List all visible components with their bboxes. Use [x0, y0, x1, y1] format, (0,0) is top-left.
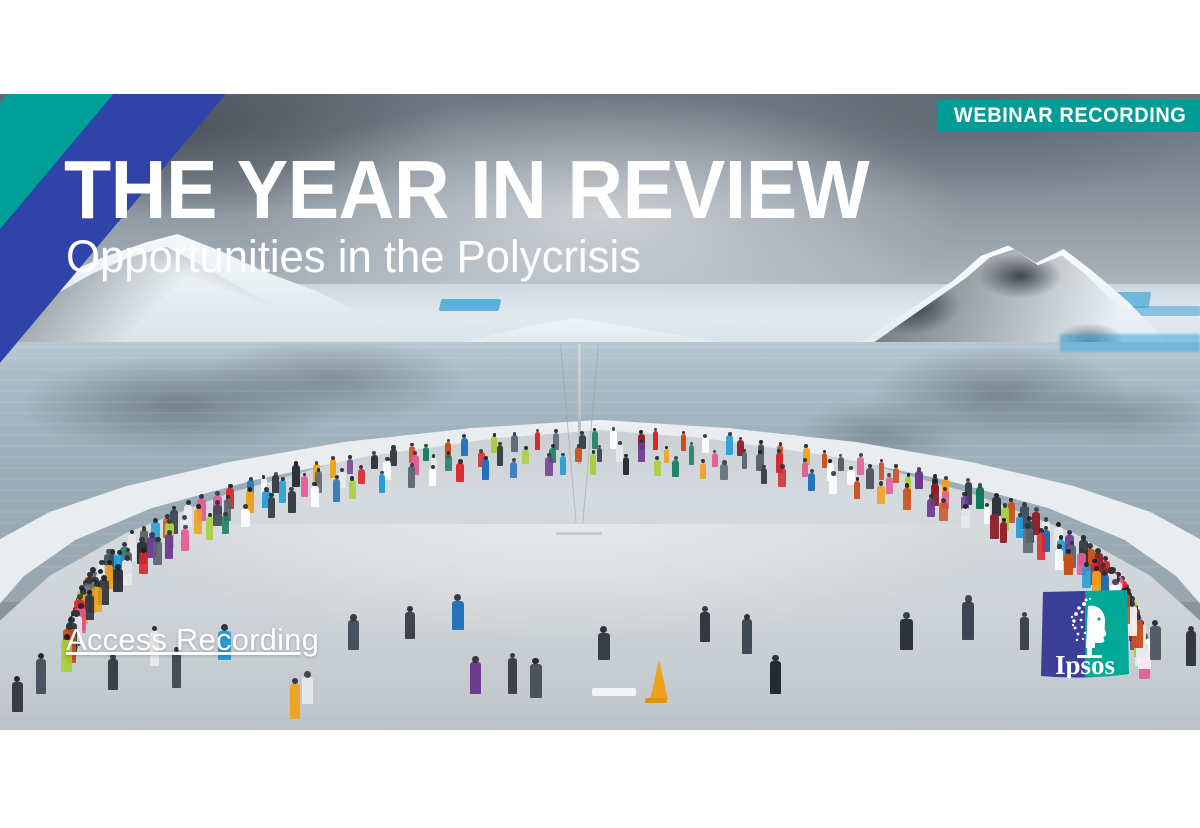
passenger: [857, 457, 864, 475]
passenger: [1081, 535, 1086, 540]
passenger: [1150, 626, 1161, 660]
passenger: [289, 487, 294, 492]
passenger: [301, 476, 308, 497]
passenger: [866, 468, 874, 489]
passenger: [1057, 544, 1062, 549]
passenger: [1095, 548, 1101, 554]
webinar-promo-page: WEBINAR RECORDING THE YEAR IN REVIEW Opp…: [0, 0, 1200, 828]
passenger: [577, 444, 581, 448]
passenger: [1064, 554, 1073, 576]
passenger: [87, 577, 94, 584]
passenger: [222, 515, 229, 534]
passenger: [196, 504, 201, 509]
passenger: [452, 601, 464, 630]
passenger: [249, 477, 253, 481]
passenger: [854, 481, 860, 500]
passenger: [348, 620, 359, 650]
passenger: [965, 595, 973, 603]
passenger: [268, 497, 275, 518]
passenger: [530, 664, 542, 698]
passenger: [213, 505, 222, 526]
passenger: [551, 444, 555, 448]
passenger: [223, 512, 227, 516]
passenger: [1112, 579, 1119, 586]
passenger: [470, 662, 481, 694]
passenger: [1188, 626, 1194, 632]
passenger: [1023, 528, 1033, 553]
passenger: [513, 432, 517, 436]
passenger: [1055, 549, 1063, 571]
passenger: [106, 549, 112, 555]
passenger: [597, 448, 603, 462]
passenger: [429, 468, 436, 485]
passenger: [380, 471, 384, 475]
passenger: [744, 614, 750, 620]
passenger: [248, 487, 253, 492]
passenger: [779, 442, 782, 445]
passenger: [900, 619, 913, 650]
passenger: [371, 455, 378, 470]
passenger: [408, 466, 415, 488]
passenger: [762, 465, 766, 469]
passenger: [522, 449, 529, 464]
passenger: [701, 459, 705, 463]
passenger: [535, 432, 541, 451]
passenger: [927, 499, 935, 517]
passenger: [838, 457, 843, 471]
ipsos-profile-head-logo: Ipsos: [1040, 590, 1130, 678]
passenger: [590, 454, 596, 475]
passenger: [700, 612, 710, 642]
passenger: [681, 434, 686, 452]
passenger: [423, 447, 429, 461]
passenger: [335, 475, 339, 479]
passenger: [990, 514, 999, 539]
passenger: [700, 463, 706, 479]
passenger: [1108, 567, 1114, 573]
traffic-cone-base: [645, 698, 667, 703]
passenger: [78, 603, 84, 609]
passenger: [36, 659, 46, 694]
passenger: [829, 475, 837, 494]
passenger: [810, 469, 814, 473]
passenger: [524, 446, 528, 450]
badge-label: WEBINAR RECORDING: [954, 104, 1186, 128]
passenger: [915, 471, 923, 489]
passenger: [886, 477, 893, 494]
passenger: [228, 484, 233, 489]
passenger: [472, 656, 479, 663]
passenger: [770, 661, 781, 694]
passenger: [141, 548, 146, 553]
passenger: [944, 476, 948, 480]
passenger: [262, 475, 266, 479]
passenger: [689, 445, 694, 465]
passenger: [1022, 502, 1027, 507]
passenger: [424, 444, 428, 448]
passenger: [94, 581, 100, 587]
passenger: [350, 614, 357, 621]
passenger: [917, 467, 922, 472]
passenger: [165, 534, 173, 559]
passenger: [445, 455, 452, 471]
passenger: [215, 500, 220, 505]
passenger: [1003, 503, 1008, 508]
passenger: [98, 569, 103, 574]
passenger: [304, 671, 311, 678]
passenger: [759, 440, 763, 444]
passenger: [976, 487, 984, 509]
passenger: [664, 449, 670, 464]
passenger: [73, 610, 80, 617]
passenger: [311, 486, 319, 507]
passenger: [456, 463, 464, 482]
passenger: [153, 541, 162, 565]
passenger: [961, 508, 970, 528]
passenger: [333, 479, 340, 502]
passenger: [654, 460, 661, 476]
passenger: [1000, 522, 1007, 543]
passenger: [893, 468, 900, 484]
passenger: [139, 552, 148, 574]
passenger: [139, 537, 145, 543]
passenger: [780, 464, 785, 469]
passenger: [290, 684, 300, 719]
passenger: [653, 431, 659, 450]
passenger: [281, 477, 285, 481]
passenger: [484, 456, 488, 460]
passenger: [1020, 617, 1029, 651]
passenger: [1034, 507, 1039, 512]
passenger: [482, 459, 489, 480]
passenger: [1025, 523, 1031, 529]
passenger: [186, 500, 191, 505]
passenger: [85, 595, 95, 620]
passenger: [1186, 631, 1196, 666]
passenger: [292, 465, 300, 487]
passenger: [933, 474, 937, 478]
passenger: [347, 459, 353, 474]
passenger: [272, 475, 279, 493]
passenger: [720, 464, 728, 480]
passenger: [508, 658, 517, 694]
passenger: [742, 619, 752, 654]
passenger: [358, 469, 365, 484]
passenger: [101, 575, 107, 581]
passenger: [206, 516, 213, 540]
passenger: [592, 450, 596, 454]
passenger: [264, 487, 269, 492]
passenger: [1018, 513, 1022, 517]
status-badge: WEBINAR RECORDING: [937, 100, 1200, 132]
passenger: [722, 460, 727, 465]
passenger: [108, 659, 118, 690]
passenger: [117, 550, 122, 555]
passenger: [279, 480, 286, 503]
passenger: [575, 447, 582, 462]
passenger: [113, 569, 124, 592]
passenger: [122, 560, 132, 585]
passenger: [302, 677, 313, 704]
passenger: [638, 442, 644, 462]
passenger: [702, 437, 709, 452]
passenger: [405, 612, 415, 639]
passenger: [592, 431, 598, 449]
passenger: [115, 564, 121, 570]
passenger: [672, 460, 679, 477]
passenger: [933, 479, 938, 484]
passenger: [153, 518, 158, 523]
passenger: [640, 439, 644, 443]
passenger: [155, 537, 160, 542]
passenger: [728, 432, 732, 436]
passenger: [1087, 543, 1093, 549]
passenger: [107, 560, 112, 565]
passenger: [994, 493, 999, 498]
passenger: [879, 462, 885, 480]
passenger: [682, 431, 685, 434]
passenger: [1079, 548, 1085, 554]
passenger: [963, 504, 968, 509]
passenger: [292, 678, 298, 684]
passenger: [903, 488, 911, 511]
passenger: [167, 530, 172, 535]
headline-block: THE YEAR IN REVIEW Opportunities in the …: [64, 156, 964, 279]
traffic-cone-icon: [650, 660, 668, 700]
passenger: [208, 513, 212, 517]
passenger: [511, 435, 517, 452]
passenger: [125, 555, 131, 561]
passenger: [1037, 533, 1046, 560]
passenger: [907, 473, 911, 477]
passenger: [215, 491, 220, 496]
passenger: [742, 452, 747, 469]
passenger: [349, 480, 356, 499]
passenger: [181, 529, 189, 551]
passenger: [226, 495, 230, 499]
access-recording-link[interactable]: Access Recording: [66, 622, 319, 658]
ipsos-logo[interactable]: Ipsos: [1040, 590, 1130, 678]
passenger: [493, 433, 497, 437]
page-title: THE YEAR IN REVIEW: [64, 156, 901, 224]
passenger: [410, 463, 414, 467]
passenger: [962, 602, 974, 640]
passenger: [431, 465, 435, 469]
passenger: [880, 459, 883, 462]
passenger: [274, 472, 278, 476]
passenger: [702, 606, 708, 612]
passenger: [149, 532, 155, 538]
passenger: [561, 453, 564, 456]
passenger: [497, 445, 503, 466]
passenger: [612, 427, 616, 431]
passenger: [241, 509, 250, 527]
page-subtitle: Opportunities in the Polycrisis: [66, 234, 937, 279]
passenger: [831, 471, 836, 476]
passenger: [726, 435, 733, 455]
passenger: [623, 457, 629, 475]
passenger: [778, 468, 786, 487]
passenger: [331, 456, 335, 460]
passenger: [877, 486, 885, 505]
deck-bench: [592, 688, 636, 696]
passenger: [554, 429, 558, 433]
passenger: [761, 468, 767, 484]
passenger: [167, 519, 172, 524]
passenger: [458, 459, 463, 464]
passenger: [348, 455, 352, 459]
passenger: [1082, 566, 1091, 588]
passenger: [461, 438, 468, 456]
passenger: [598, 633, 610, 660]
passenger: [985, 503, 989, 507]
passenger: [856, 477, 860, 481]
passenger: [379, 474, 385, 493]
passenger: [624, 454, 628, 458]
passenger: [712, 453, 718, 467]
passenger: [545, 457, 552, 477]
passenger: [939, 502, 948, 520]
passenger: [992, 509, 997, 514]
ipsos-wordmark: Ipsos: [1055, 650, 1115, 678]
passenger: [182, 515, 187, 520]
passenger: [859, 453, 863, 457]
passenger: [560, 456, 566, 476]
passenger: [674, 456, 678, 460]
passenger: [12, 682, 23, 712]
passenger: [288, 491, 296, 513]
passenger: [510, 462, 517, 478]
passenger: [690, 442, 693, 445]
passenger: [194, 509, 202, 534]
passenger: [978, 483, 982, 487]
passenger: [142, 526, 147, 531]
passenger: [183, 525, 188, 530]
passenger: [808, 473, 815, 491]
hero-banner: WEBINAR RECORDING THE YEAR IN REVIEW Opp…: [0, 94, 1200, 730]
passenger: [1002, 518, 1006, 522]
passenger: [391, 445, 395, 449]
